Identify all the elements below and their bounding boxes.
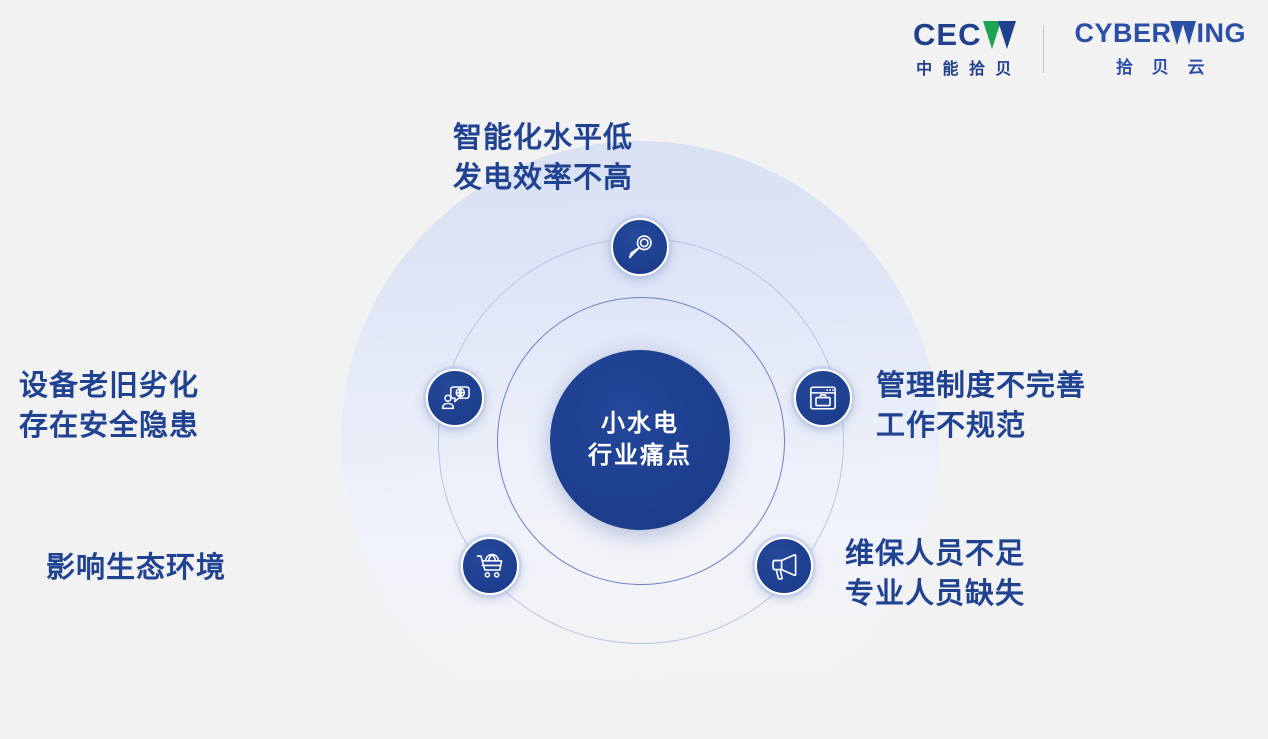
- node-right[interactable]: [794, 369, 852, 427]
- megaphone-icon: [769, 552, 800, 581]
- label-bottom-right-line1: 维保人员不足: [845, 534, 1025, 574]
- label-right: 管理制度不完善 工作不规范: [876, 366, 1086, 446]
- person-globe-bubble-icon: [439, 383, 471, 413]
- cec-logo-wordmark-row: CEC: [913, 19, 1017, 50]
- double-chevron-mark-icon: [983, 20, 1017, 50]
- browser-briefcase-icon: [808, 384, 838, 412]
- cec-logo-subtitle: 中 能 拾 贝: [916, 55, 1014, 79]
- center-hub-line2: 行业痛点: [588, 440, 692, 472]
- label-right-line2: 工作不规范: [876, 406, 1086, 446]
- label-left-line2: 存在安全隐患: [19, 406, 199, 446]
- center-hub-line1: 小水电: [601, 408, 679, 440]
- cyberwing-wordmark-row: CYBER ING: [1074, 20, 1246, 47]
- center-hub: 小水电 行业痛点: [550, 350, 730, 530]
- label-bottom-left-line1: 影响生态环境: [46, 548, 226, 588]
- label-bottom-left: 影响生态环境: [46, 548, 226, 588]
- pain-points-diagram: 小水电 行业痛点: [341, 141, 939, 739]
- label-top-line1: 智能化水平低: [453, 118, 633, 158]
- cyberwing-logo: CYBER ING 拾 贝 云: [1044, 20, 1246, 78]
- label-left: 设备老旧劣化 存在安全隐患: [19, 366, 199, 446]
- node-bottom-right[interactable]: [755, 537, 813, 595]
- label-top: 智能化水平低 发电效率不高: [453, 118, 633, 198]
- label-bottom-right-line2: 专业人员缺失: [845, 574, 1025, 614]
- cart-globe-icon: [475, 552, 506, 581]
- label-left-line1: 设备老旧劣化: [19, 366, 199, 406]
- cyberwing-logo-subtitle: 拾 贝 云: [1109, 53, 1211, 78]
- magnifier-icon: [625, 232, 655, 262]
- cyberwing-wordmark-part2: ING: [1196, 20, 1246, 47]
- label-bottom-right: 维保人员不足 专业人员缺失: [845, 534, 1025, 614]
- double-chevron-mark-icon: [1170, 21, 1197, 46]
- node-bottom-left[interactable]: [461, 537, 519, 595]
- header-logos: CEC 中 能 拾 贝 CYBER ING 拾 贝 云: [913, 18, 1246, 80]
- cyberwing-wordmark-part1: CYBER: [1074, 20, 1171, 47]
- label-top-line2: 发电效率不高: [453, 158, 633, 198]
- node-left[interactable]: [426, 369, 484, 427]
- node-top[interactable]: [611, 218, 669, 276]
- cec-logo: CEC 中 能 拾 贝: [913, 19, 1043, 79]
- label-right-line1: 管理制度不完善: [876, 366, 1086, 406]
- cec-wordmark: CEC: [913, 19, 981, 50]
